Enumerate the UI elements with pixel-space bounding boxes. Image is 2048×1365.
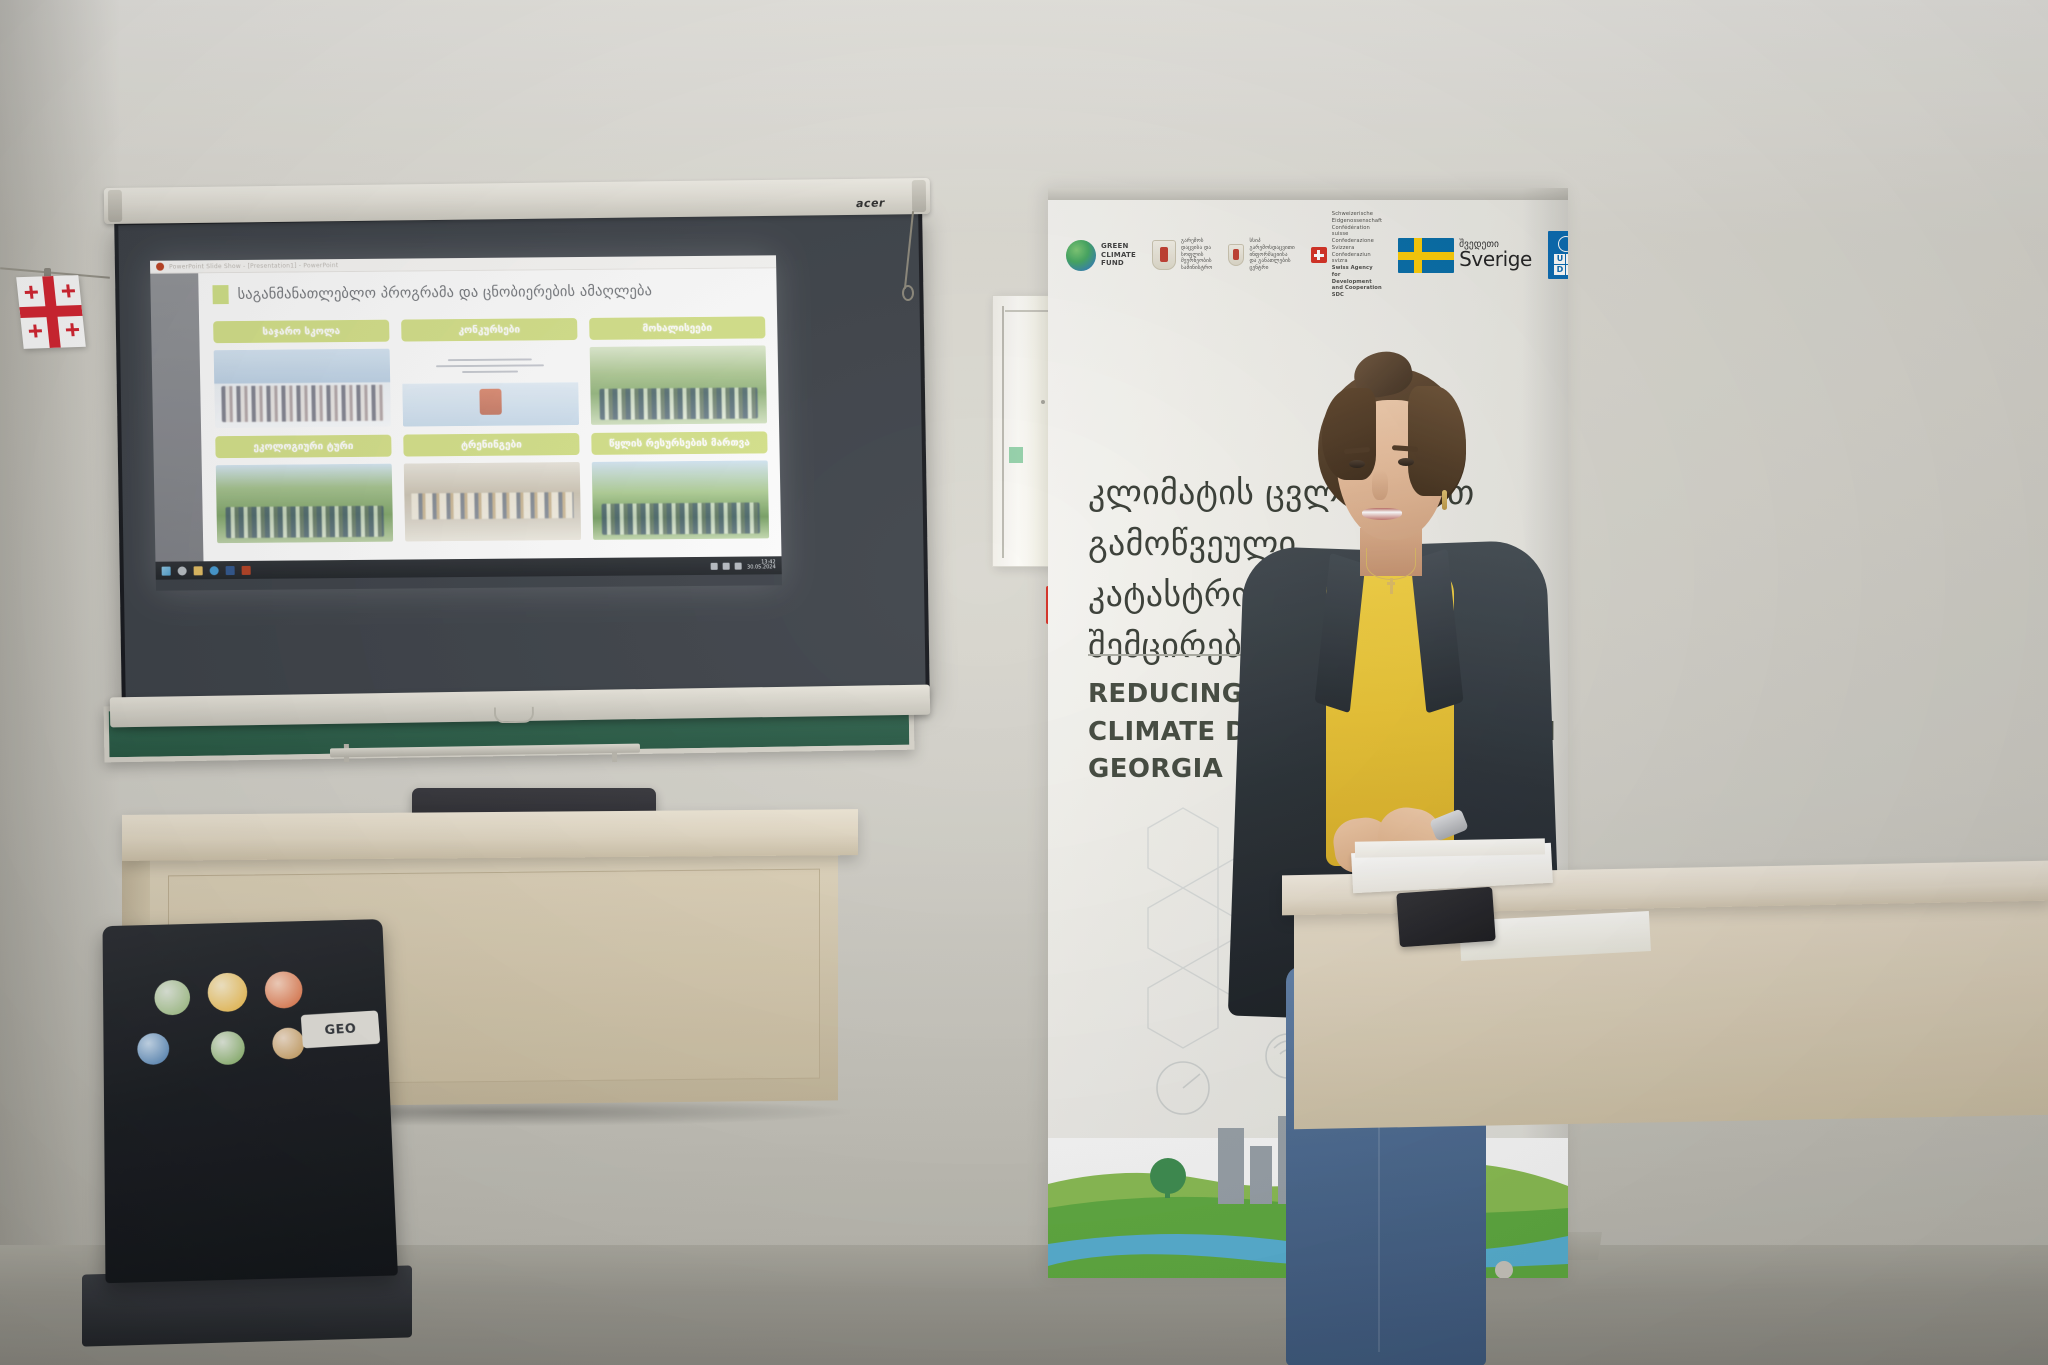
- sticker-round-yellow: [207, 972, 247, 1012]
- cross-pendant-icon: [1387, 578, 1395, 594]
- taskbar-icons[interactable]: [162, 565, 251, 575]
- necklace: [1366, 548, 1416, 580]
- slide-cell-photo: [216, 464, 393, 544]
- undp-letter: N: [1566, 254, 1568, 264]
- undp-letter: U: [1554, 254, 1565, 264]
- roller-end-right: [912, 180, 926, 212]
- screen-cord-ring[interactable]: [902, 285, 914, 301]
- slide-grid: საჯარო სკოლა კონკურსები მოხალისეები: [213, 316, 769, 543]
- network-icon[interactable]: [711, 562, 718, 569]
- georgia-coat-of-arms-icon: [1152, 240, 1176, 270]
- globe-icon: [1066, 240, 1096, 271]
- slide-canvas: საგანმანათლებლო პროგრამა და ცნობიერების …: [198, 268, 781, 561]
- green-tag-icon: [1009, 447, 1023, 463]
- banner-top-cap: [1048, 188, 1568, 200]
- slide-cell-label: ტრენინგები: [403, 433, 579, 457]
- sverige-text: შვედეთი Sverige: [1459, 240, 1532, 271]
- slide-cell-photo: [404, 462, 581, 542]
- green-climate-fund-logo: GREENCLIMATEFUND: [1066, 240, 1136, 271]
- sweden-flag-icon: [1398, 238, 1454, 273]
- agency-emblem-icon: [1228, 244, 1244, 266]
- edge-icon[interactable]: [210, 566, 219, 575]
- laptop-lid[interactable]: GEO: [103, 919, 398, 1283]
- explorer-icon[interactable]: [194, 566, 203, 575]
- slide-cell: კონკურსები: [401, 318, 579, 427]
- laptop-sticker-text: GEO: [301, 1010, 381, 1048]
- sticker-round-tan: [272, 1027, 305, 1059]
- mouth: [1362, 508, 1402, 520]
- sticker-round-olive: [211, 1031, 246, 1065]
- hair-front-right: [1408, 386, 1466, 496]
- slide-cell: წყლის რესურსების მართვა: [591, 431, 769, 540]
- undp-letter: P: [1566, 265, 1568, 275]
- slide-cell-label: კონკურსები: [401, 318, 577, 342]
- acer-brand-label: acer: [856, 196, 908, 213]
- sverige-label-en: Sverige: [1459, 249, 1532, 270]
- hair-front-left: [1322, 388, 1376, 480]
- georgia-environment-agency-logo: სსიპ გარემოსდაცვითი ინფორმაციისა და განა…: [1228, 238, 1294, 272]
- search-icon[interactable]: [178, 566, 187, 575]
- slide-cell-label: წყლის რესურსების მართვა: [591, 431, 767, 455]
- gov-logo-caption: გარემოს დაცვისა და სოფლის მეურნეობის სამ…: [1181, 238, 1212, 272]
- swiss-cross-icon: [1311, 247, 1327, 263]
- georgian-flag-icon: [16, 275, 86, 349]
- undp-logo: U N D P: [1548, 231, 1568, 279]
- slide-cell-photo: [214, 349, 391, 429]
- notebook[interactable]: [1396, 887, 1496, 948]
- powerpoint-icon: [156, 263, 164, 271]
- gcf-logo-text: GREENCLIMATEFUND: [1101, 242, 1136, 268]
- earring: [1442, 490, 1447, 510]
- sticker-round-green: [154, 980, 190, 1016]
- slide-cell: ეკოლოგიური ტური: [215, 435, 393, 544]
- sticker-round-orange: [264, 971, 303, 1009]
- taskbar-date: 30.05.2024: [747, 565, 776, 570]
- laptop[interactable]: GEO: [96, 918, 396, 1365]
- swiss-confederation-logo: Schweizerische EidgenossenschaftConfédér…: [1311, 211, 1382, 299]
- slide-heading: საგანმანათლებლო პროგრამა და ცნობიერების …: [212, 281, 652, 304]
- eye-right: [1398, 458, 1414, 466]
- slide-cell-label: მოხალისეები: [589, 316, 765, 340]
- powerpoint-taskbar-icon[interactable]: [242, 565, 251, 574]
- taskbar-tray[interactable]: 13:42 30.05.2024: [711, 560, 776, 571]
- taskbar-clock[interactable]: 13:42 30.05.2024: [747, 560, 776, 571]
- slide-cell-label: საჯარო სკოლა: [213, 320, 389, 344]
- wooden-desk: [122, 809, 858, 861]
- nose: [1372, 470, 1388, 500]
- projected-slide: PowerPoint Slide Show - [Presentation1] …: [150, 255, 782, 590]
- battery-icon[interactable]: [735, 562, 742, 569]
- slide-cell: საჯარო სკოლა: [213, 320, 391, 429]
- sticker-round-blue: [137, 1033, 169, 1065]
- word-icon[interactable]: [226, 566, 235, 575]
- slide-cell-photo: [590, 345, 767, 425]
- volume-icon[interactable]: [723, 562, 730, 569]
- powerpoint-window-title: PowerPoint Slide Show - [Presentation1] …: [169, 262, 338, 270]
- slide-heading-text: საგანმანათლებლო პროგრამა და ცნობიერების …: [237, 283, 652, 303]
- undp-globe-icon: [1558, 236, 1568, 252]
- windows-icon[interactable]: [162, 566, 171, 575]
- eye-left: [1349, 460, 1365, 468]
- sweden-sverige-logo: შვედეთი Sverige: [1398, 238, 1532, 273]
- undp-letter: D: [1554, 265, 1565, 275]
- slide-cell-label: ეკოლოგიური ტური: [215, 435, 391, 459]
- cabinet-seam: [1002, 306, 1004, 558]
- agency-logo-caption: სსიპ გარემოსდაცვითი ინფორმაციისა და განა…: [1249, 238, 1294, 272]
- cabinet-knob[interactable]: [1041, 400, 1045, 404]
- swiss-logo-caption: Schweizerische EidgenossenschaftConfédér…: [1332, 211, 1382, 299]
- heading-bullet-icon: [212, 285, 228, 304]
- banner-logo-row: GREENCLIMATEFUND გარემოს დაცვისა და სოფლ…: [1066, 222, 1556, 288]
- undp-letters: U N D P: [1554, 254, 1568, 275]
- slide-left-rail: [150, 273, 203, 561]
- slide-cell-photo: [592, 460, 769, 540]
- slide-cell: ტრენინგები: [403, 433, 581, 542]
- slide-cell-photo: [402, 347, 579, 427]
- room-scene: acer PowerPoint Slide Show - [Presentati…: [0, 0, 2048, 1365]
- slide-cell: მოხალისეები: [589, 316, 767, 425]
- georgia-gov-emblem-logo: გარემოს დაცვისა და სოფლის მეურნეობის სამ…: [1152, 238, 1212, 272]
- screen-pull-handle[interactable]: [494, 707, 534, 724]
- roller-end-left: [108, 190, 122, 222]
